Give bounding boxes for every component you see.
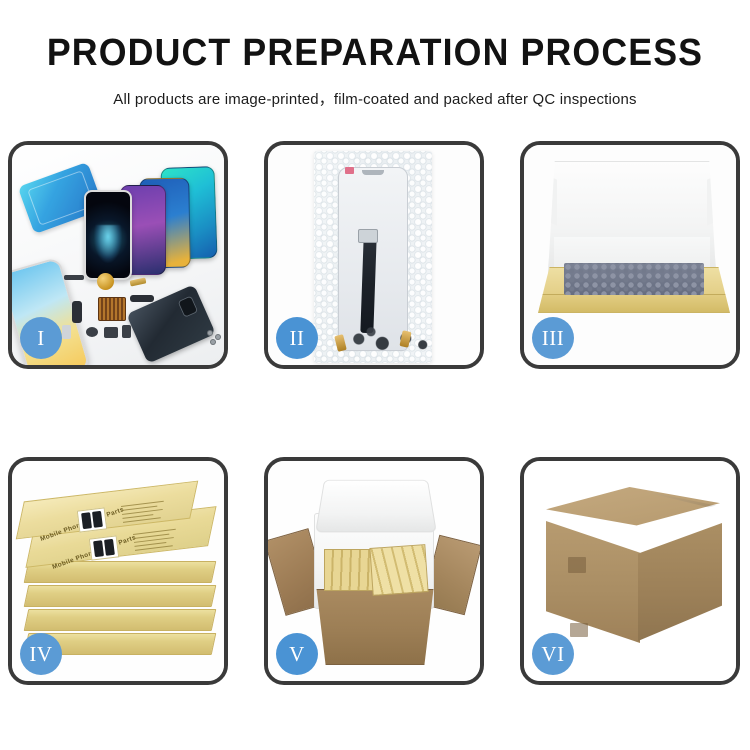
process-step-1[interactable]: I bbox=[8, 141, 228, 369]
flex-cable-part bbox=[130, 295, 154, 302]
box-product-photo-a bbox=[77, 507, 107, 532]
step-badge-6: VI bbox=[532, 633, 574, 675]
connector-grid-part bbox=[98, 297, 126, 321]
speaker-part-icon bbox=[97, 273, 114, 290]
component-cluster bbox=[340, 321, 434, 357]
kraft-box-layer-3 bbox=[24, 585, 217, 607]
vibration-motor-part bbox=[122, 325, 131, 338]
step-badge-5: V bbox=[276, 633, 318, 675]
carton-right-face bbox=[638, 523, 722, 641]
pink-label-sticker bbox=[345, 167, 354, 174]
foam-lid-open bbox=[315, 480, 437, 532]
process-step-3[interactable]: III bbox=[520, 141, 740, 369]
screen-notch bbox=[362, 170, 384, 175]
bubble-wrap-bag bbox=[314, 151, 432, 363]
screen-connector bbox=[358, 229, 378, 243]
carton-body bbox=[310, 589, 440, 665]
step-badge-4: IV bbox=[20, 633, 62, 675]
process-step-grid: I II bbox=[8, 141, 743, 741]
box-product-photo-b bbox=[89, 535, 119, 560]
step-badge-1: I bbox=[20, 317, 62, 359]
camera-part bbox=[86, 327, 98, 337]
kraft-boxes-inside bbox=[324, 549, 424, 591]
process-step-4[interactable]: Mobile Phone Spare Parts Mobile Phone Sp… bbox=[8, 457, 228, 685]
page-title: PRODUCT PREPARATION PROCESS bbox=[23, 34, 728, 72]
sealed-carton bbox=[540, 487, 726, 655]
battery-connector-part bbox=[104, 327, 118, 338]
process-step-6[interactable]: VI bbox=[520, 457, 740, 685]
sim-tray-part bbox=[62, 325, 71, 339]
process-step-5[interactable]: V bbox=[264, 457, 484, 685]
kraft-box-layer-4 bbox=[24, 609, 217, 631]
carton-handle-tab-top bbox=[568, 557, 586, 573]
step-badge-2: II bbox=[276, 317, 318, 359]
step-badge-3: III bbox=[532, 317, 574, 359]
product-preparation-infographic: PRODUCT PREPARATION PROCESS All products… bbox=[0, 0, 750, 750]
grey-foam-packing bbox=[564, 263, 704, 295]
flex-cable-part-2 bbox=[72, 301, 82, 323]
box-front-panel bbox=[539, 294, 729, 312]
small-part-strip bbox=[64, 275, 84, 280]
carton-handle-tab-bottom bbox=[570, 623, 588, 637]
screws-group bbox=[208, 331, 224, 345]
process-step-2[interactable]: II bbox=[264, 141, 484, 369]
page-subtitle: All products are image-printed，film-coat… bbox=[6, 87, 745, 109]
phone-screen-black bbox=[84, 190, 132, 280]
carton-left-face bbox=[546, 521, 640, 643]
header: PRODUCT PREPARATION PROCESS All products… bbox=[0, 0, 750, 109]
